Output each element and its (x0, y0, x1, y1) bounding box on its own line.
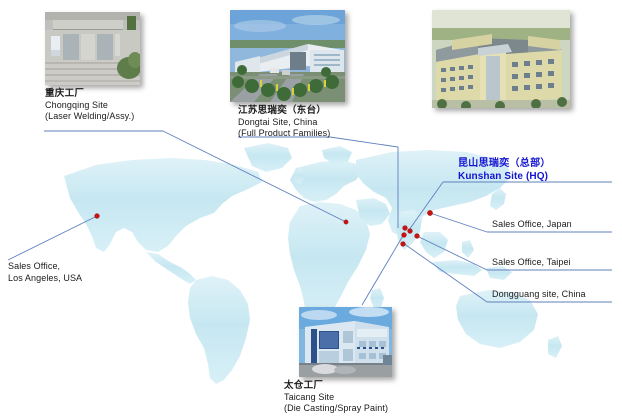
label-dongtai-detail: (Full Product Families) (238, 128, 330, 140)
label-sales-office-taipei: Sales Office, Taipei (492, 257, 571, 269)
marker-japan (427, 210, 432, 215)
label-taicang-detail: (Die Casting/Spray Paint) (284, 403, 388, 415)
label-taicang-cn: 太仓工厂 (284, 380, 388, 392)
label-kunshan-cn: 昆山思瑞奕（总部） (458, 158, 551, 171)
taipei-leader (417, 236, 487, 270)
label-dongtai-en: Dongtai Site, China (238, 117, 330, 129)
kunshan-leader (409, 182, 443, 230)
label-la-line1: Sales Office, (8, 261, 82, 273)
label-kunshan-hq: 昆山思瑞奕（总部） Kunshan Site (HQ) (458, 158, 551, 183)
marker-dongtai (403, 226, 408, 231)
dongtai-leader (330, 137, 398, 228)
label-sales-office-los-angeles: Sales Office, Los Angeles, USA (8, 261, 82, 284)
label-dongguang-site: Dongguang site, China (492, 289, 586, 301)
label-chongqing-en: Chongqing Site (45, 100, 134, 112)
label-sales-office-japan: Sales Office, Japan (492, 219, 572, 231)
los-angeles-leader (8, 216, 97, 260)
photo-taicang (299, 307, 392, 377)
photo-kunshan (432, 10, 570, 108)
label-dongguang-text: Dongguang site, China (492, 289, 586, 301)
marker-europe (344, 220, 348, 224)
japan-leader (430, 213, 487, 232)
dongguang-leader (403, 243, 487, 302)
label-chongqing-detail: (Laser Welding/Assy.) (45, 111, 134, 123)
label-chongqing: 重庆工厂 Chongqing Site (Laser Welding/Assy.… (45, 88, 134, 123)
marker-dongguang (401, 242, 406, 247)
label-kunshan-en: Kunshan Site (HQ) (458, 171, 551, 184)
marker-taipei (415, 234, 420, 239)
marker-kunshan (408, 229, 413, 234)
label-taicang: 太仓工厂 Taicang Site (Die Casting/Spray Pai… (284, 380, 388, 415)
label-dongtai: 江苏思瑞奕（东台） Dongtai Site, China (Full Prod… (238, 105, 330, 140)
marker-los-angeles (95, 214, 100, 219)
label-taipei-text: Sales Office, Taipei (492, 257, 571, 269)
label-dongtai-cn: 江苏思瑞奕（东台） (238, 105, 330, 117)
photo-chongqing (45, 12, 140, 85)
taicang-leader (362, 234, 404, 305)
label-japan-text: Sales Office, Japan (492, 219, 572, 231)
marker-taicang (402, 233, 407, 238)
label-chongqing-cn: 重庆工厂 (45, 88, 134, 100)
site-map-figure: 重庆工厂 Chongqing Site (Laser Welding/Assy.… (0, 0, 622, 418)
photo-dongtai (230, 10, 345, 102)
chongqing-leader (163, 131, 346, 222)
site-markers (95, 210, 433, 246)
label-taicang-en: Taicang Site (284, 392, 388, 404)
label-la-line2: Los Angeles, USA (8, 273, 82, 285)
